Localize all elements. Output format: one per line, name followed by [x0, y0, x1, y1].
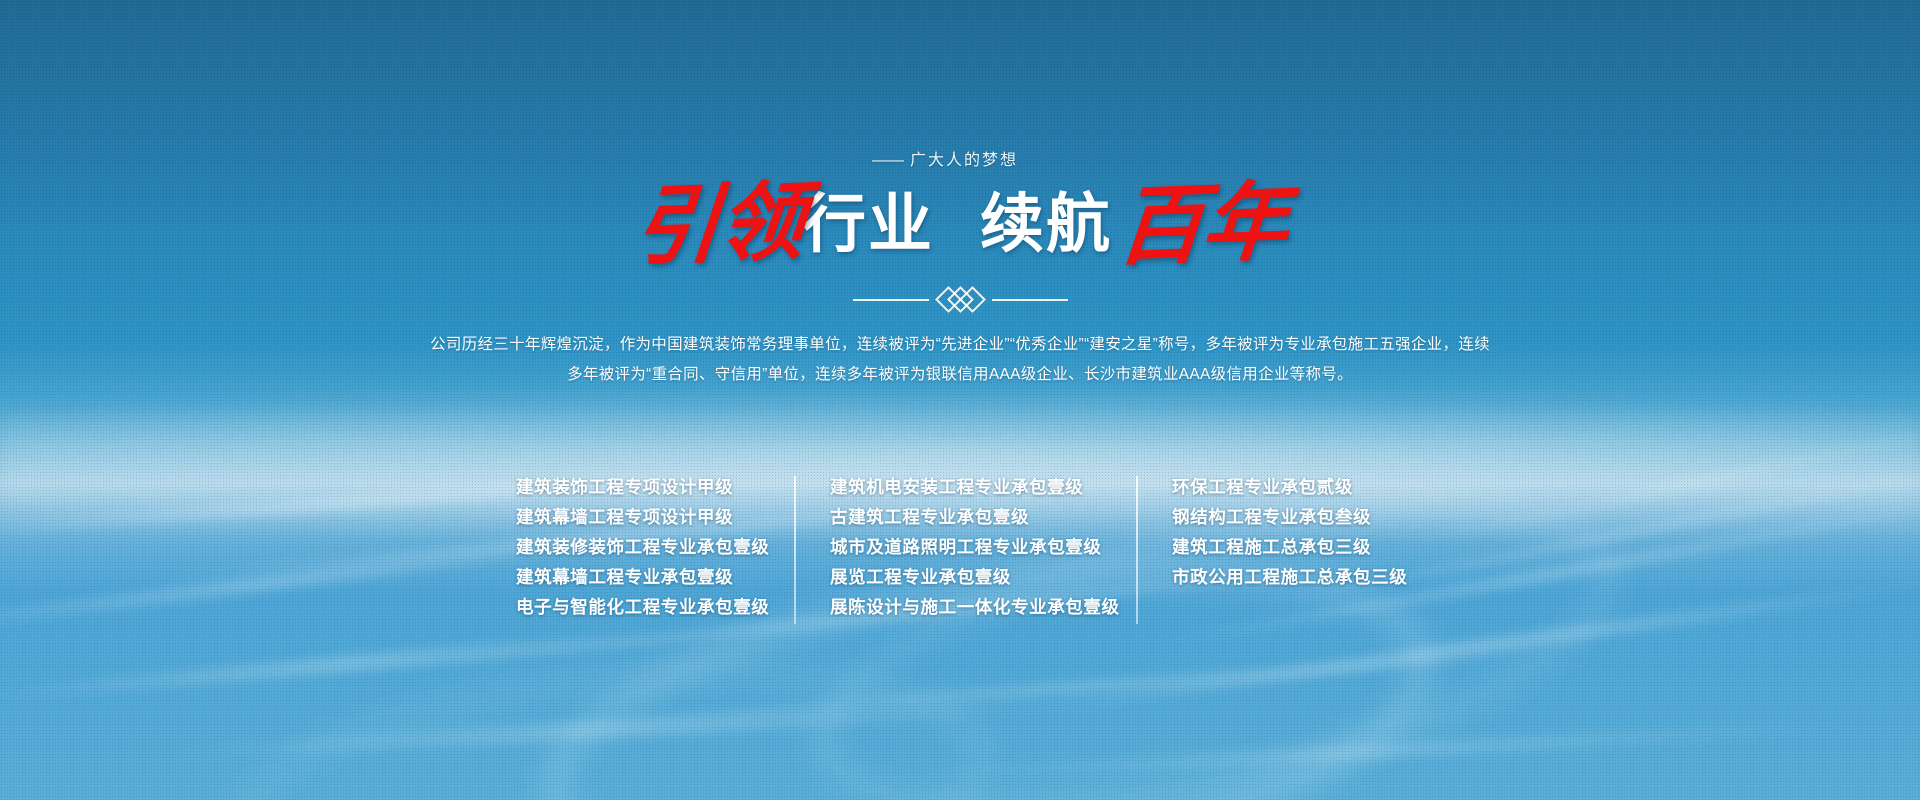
headline-part-century-red: 百年: [1114, 179, 1290, 271]
diamond-divider: [0, 290, 1920, 309]
qualification-item: 建筑工程施工总承包三级: [1172, 532, 1404, 562]
hero-banner: ——广大人的梦想 引领 行业 续航 百年 公司历经三十年辉煌沉淀，作为中国建筑装…: [0, 0, 1920, 800]
qualification-item: 建筑幕墙工程专项设计甲级: [516, 502, 760, 532]
headline-part-endurance-white: 续航: [980, 193, 1112, 257]
qualification-item: 建筑幕墙工程专业承包壹级: [516, 562, 760, 592]
qualification-column-2: 建筑机电安装工程专业承包壹级 古建筑工程专业承包壹级 城市及道路照明工程专业承包…: [796, 472, 1136, 622]
qualification-item: 建筑机电安装工程专业承包壹级: [830, 472, 1102, 502]
qualification-item: 古建筑工程专业承包壹级: [830, 502, 1102, 532]
qualification-item: 环保工程专业承包贰级: [1172, 472, 1404, 502]
headline-part-lead-red: 引领: [630, 179, 806, 271]
qualification-item: 展陈设计与施工一体化专业承包壹级: [830, 592, 1102, 622]
qualification-item: 建筑装饰工程专项设计甲级: [516, 472, 760, 502]
divider-line-left: [853, 299, 929, 301]
tagline-text: 广大人的梦想: [910, 152, 1018, 169]
qualification-column-1: 建筑装饰工程专项设计甲级 建筑幕墙工程专项设计甲级 建筑装修装饰工程专业承包壹级…: [482, 472, 794, 622]
banner-content: ——广大人的梦想 引领 行业 续航 百年 公司历经三十年辉煌沉淀，作为中国建筑装…: [0, 0, 1920, 800]
banner-tagline: ——广大人的梦想: [0, 146, 1920, 170]
qualification-item: 电子与智能化工程专业承包壹级: [516, 592, 760, 622]
company-description: 公司历经三十年辉煌沉淀，作为中国建筑装饰常务理事单位，连续被评为“先进企业”“优…: [0, 330, 1920, 390]
divider-line-right: [992, 299, 1068, 301]
qualification-item: 市政公用工程施工总承包三级: [1172, 562, 1404, 592]
qualifications-list: 建筑装饰工程专项设计甲级 建筑幕墙工程专项设计甲级 建筑装修装饰工程专业承包壹级…: [0, 472, 1920, 624]
diamond-divider-icon: [939, 290, 982, 309]
description-line-1: 公司历经三十年辉煌沉淀，作为中国建筑装饰常务理事单位，连续被评为“先进企业”“优…: [0, 330, 1920, 360]
qualification-column-3: 环保工程专业承包贰级 钢结构工程专业承包叁级 建筑工程施工总承包三级 市政公用工…: [1138, 472, 1438, 592]
qualification-item: 城市及道路照明工程专业承包壹级: [830, 532, 1102, 562]
description-line-2: 多年被评为“重合同、守信用”单位，连续多年被评为银联信用AAA级企业、长沙市建筑…: [0, 360, 1920, 390]
qualification-item: 钢结构工程专业承包叁级: [1172, 502, 1404, 532]
qualification-item: 展览工程专业承包壹级: [830, 562, 1102, 592]
headline-part-industry-white: 行业: [802, 193, 934, 257]
banner-headline: 引领 行业 续航 百年: [0, 182, 1920, 268]
tagline-dash: ——: [872, 152, 904, 169]
qualification-item: 建筑装修装饰工程专业承包壹级: [516, 532, 760, 562]
